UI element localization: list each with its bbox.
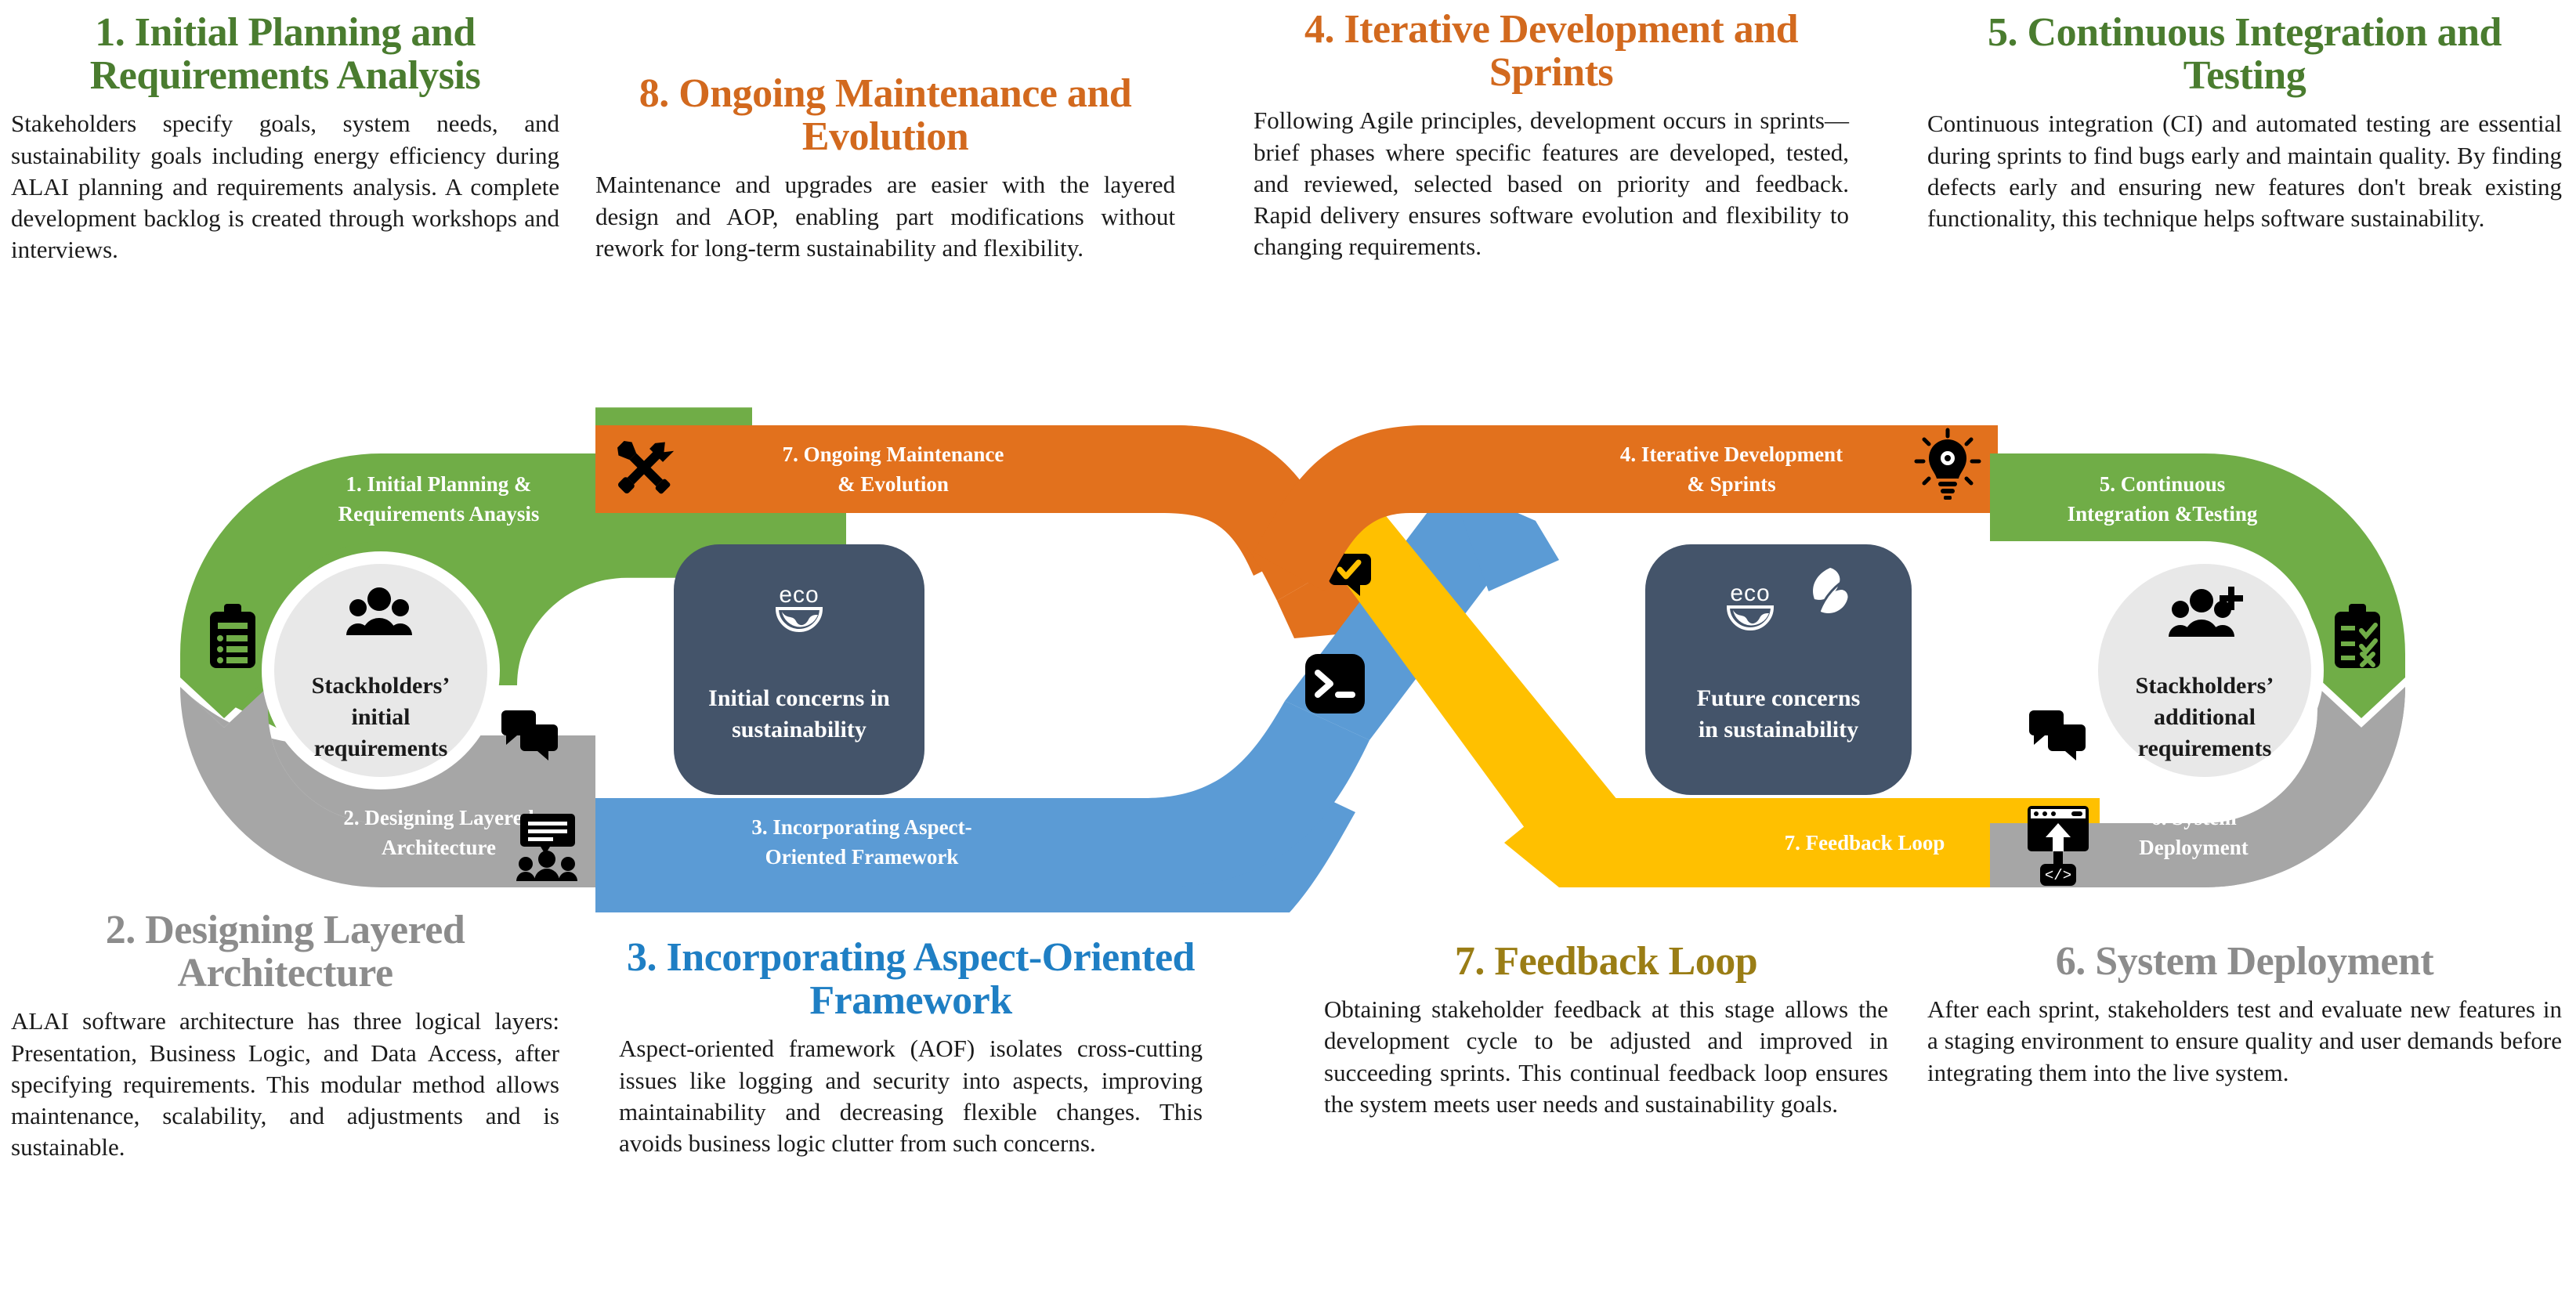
arc-label-continuous-integration-1: 5. Continuous: [2100, 472, 2226, 496]
section-designing-layered-architecture: 2. Designing Layered Architecture ALAI s…: [11, 909, 559, 1164]
section-body-iterative-development: Following Agile principles, development …: [1254, 105, 1849, 262]
core-left-line1: Stackholders’: [312, 673, 450, 699]
core-left-line3: requirements: [314, 735, 448, 761]
section-title-initial-planning: 1. Initial Planning and Requirements Ana…: [11, 11, 559, 97]
core-midright-line1: Future concerns: [1697, 685, 1861, 711]
section-aspect-oriented-framework: 3. Incorporating Aspect-Oriented Framewo…: [619, 936, 1203, 1159]
section-body-initial-planning: Stakeholders specify goals, system needs…: [11, 108, 559, 266]
section-feedback-loop: 7. Feedback Loop Obtaining stakeholder f…: [1324, 940, 1888, 1120]
arc-label-aspect-oriented-2: Oriented Framework: [765, 845, 959, 869]
core-midleft-line1: Initial concerns in: [708, 685, 890, 711]
arc-label-initial-planning-1: 1. Initial Planning &: [346, 472, 531, 496]
section-initial-planning: 1. Initial Planning and Requirements Ana…: [11, 11, 559, 266]
section-continuous-integration: 5. Continuous Integration and Testing Co…: [1927, 11, 2562, 234]
section-title-aspect-oriented-framework: 3. Incorporating Aspect-Oriented Framewo…: [619, 936, 1203, 1022]
arc-iterative-development[interactable]: [1481, 425, 1998, 513]
clipboard-list-icon: [210, 604, 255, 668]
arc-label-designing-layered-1: 2. Designing Layered: [343, 806, 534, 829]
arc-label-continuous-integration-2: Integration &Testing: [2068, 502, 2258, 526]
core-midleft-line2: sustainability: [732, 717, 867, 742]
section-title-feedback-loop: 7. Feedback Loop: [1324, 940, 1888, 983]
section-title-iterative-development: 4. Iterative Development and Sprints: [1254, 8, 1849, 94]
section-ongoing-maintenance: 8. Ongoing Maintenance and Evolution Mai…: [595, 72, 1175, 264]
section-body-ongoing-maintenance: Maintenance and upgrades are easier with…: [595, 169, 1175, 264]
arc-label-system-deployment-1: 6. System: [2151, 806, 2237, 829]
arc-label-iterative-development-1: 4. Iterative Development: [1620, 443, 1843, 466]
arc-label-aspect-oriented-1: 3. Incorporating Aspect-: [751, 815, 971, 839]
section-title-system-deployment: 6. System Deployment: [1927, 940, 2562, 983]
section-title-ongoing-maintenance: 8. Ongoing Maintenance and Evolution: [595, 72, 1175, 158]
core-midright-line2: in sustainability: [1699, 717, 1858, 742]
core-right-line2: additional: [2154, 704, 2256, 730]
section-body-system-deployment: After each sprint, stakeholders test and…: [1927, 994, 2562, 1089]
section-body-continuous-integration: Continuous integration (CI) and automate…: [1927, 108, 2562, 234]
arc-label-ongoing-maintenance-1: 7. Ongoing Maintenance: [783, 443, 1004, 466]
arc-label-ongoing-maintenance-2: & Evolution: [838, 472, 949, 496]
core-left-line2: initial: [351, 704, 410, 730]
core-right-line3: requirements: [2138, 735, 2272, 761]
section-iterative-development: 4. Iterative Development and Sprints Fol…: [1254, 8, 1849, 263]
section-body-designing-layered-architecture: ALAI software architecture has three log…: [11, 1006, 559, 1163]
section-body-feedback-loop: Obtaining stakeholder feedback at this s…: [1324, 994, 1888, 1120]
chat-bubbles-icon-right: [2029, 710, 2086, 760]
section-body-aspect-oriented-framework: Aspect-oriented framework (AOF) isolates…: [619, 1033, 1203, 1159]
section-system-deployment: 6. System Deployment After each sprint, …: [1927, 940, 2562, 1089]
card-future-concerns[interactable]: [1645, 544, 1912, 795]
arc-label-system-deployment-2: Deployment: [2139, 836, 2248, 859]
section-title-continuous-integration: 5. Continuous Integration and Testing: [1927, 11, 2562, 97]
core-right-line1: Stackholders’: [2136, 673, 2274, 699]
arc-label-feedback-loop: 7. Feedback Loop: [1785, 831, 1945, 854]
section-title-designing-layered-architecture: 2. Designing Layered Architecture: [11, 909, 559, 995]
lifecycle-infinity-diagram: </> eco Stackholders’ initial requiremen…: [157, 396, 2429, 912]
terminal-prompt-icon: [1305, 654, 1365, 714]
clipboard-check-icon: [2335, 604, 2380, 668]
arc-label-initial-planning-2: Requirements Anaysis: [338, 502, 540, 526]
arc-label-designing-layered-2: Architecture: [382, 836, 496, 859]
arc-label-iterative-development-2: & Sprints: [1687, 472, 1775, 496]
